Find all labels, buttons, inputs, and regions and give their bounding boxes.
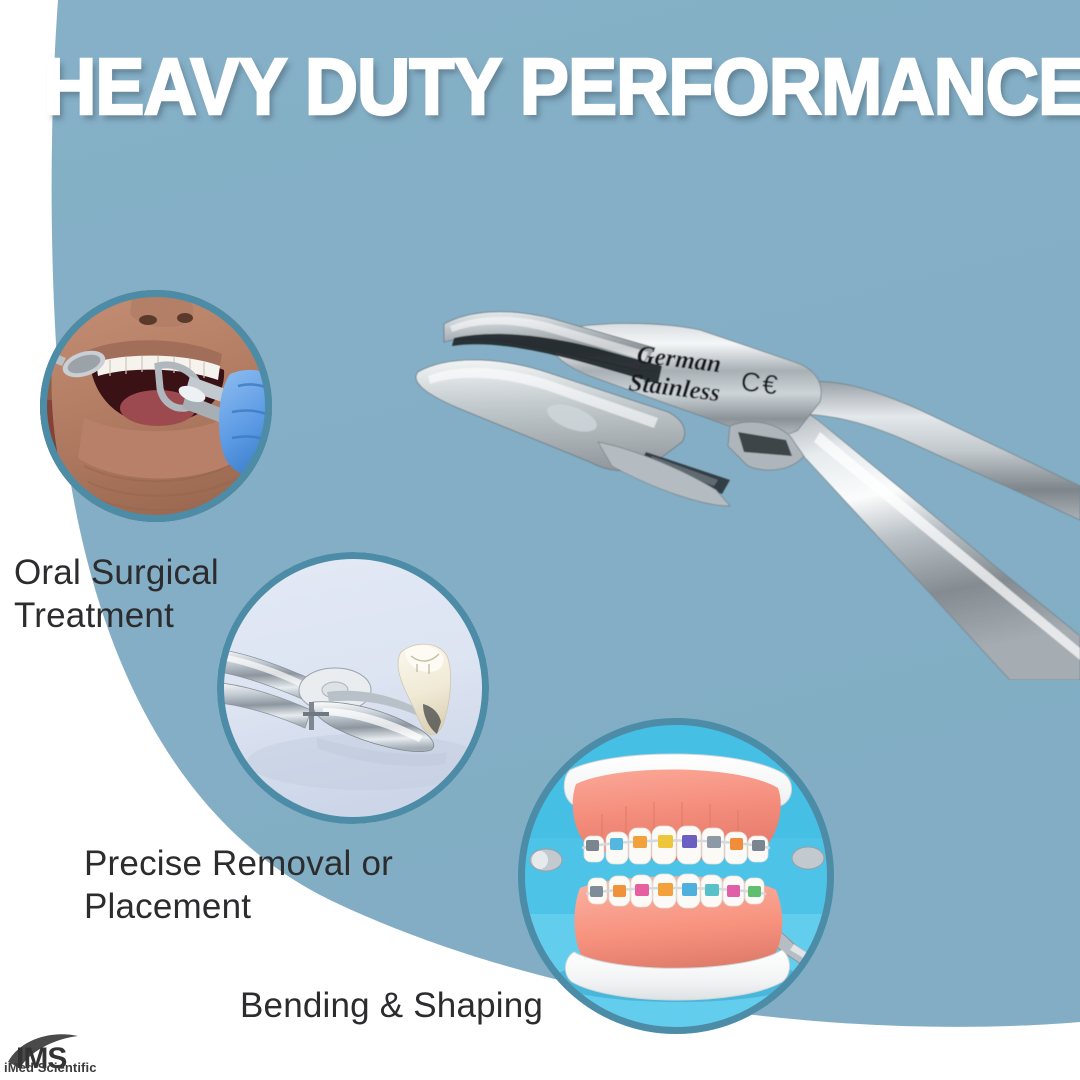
feature-caption-precise: Precise Removal or Placement: [84, 843, 504, 928]
poster-canvas: HEAVY DUTY PERFORMANCE: [0, 0, 1080, 1080]
ce-mark: C€: [739, 366, 781, 400]
brand-name: iMed Scientific: [4, 1060, 97, 1075]
feature-image-oral: [40, 290, 272, 522]
page-title: HEAVY DUTY PERFORMANCE: [43, 47, 1037, 127]
product-pliers-image: German Stainless C€: [400, 280, 1080, 680]
feature-caption-oral: Oral Surgical Treatment: [14, 552, 314, 637]
feature-caption-bending: Bending & Shaping: [240, 985, 660, 1028]
